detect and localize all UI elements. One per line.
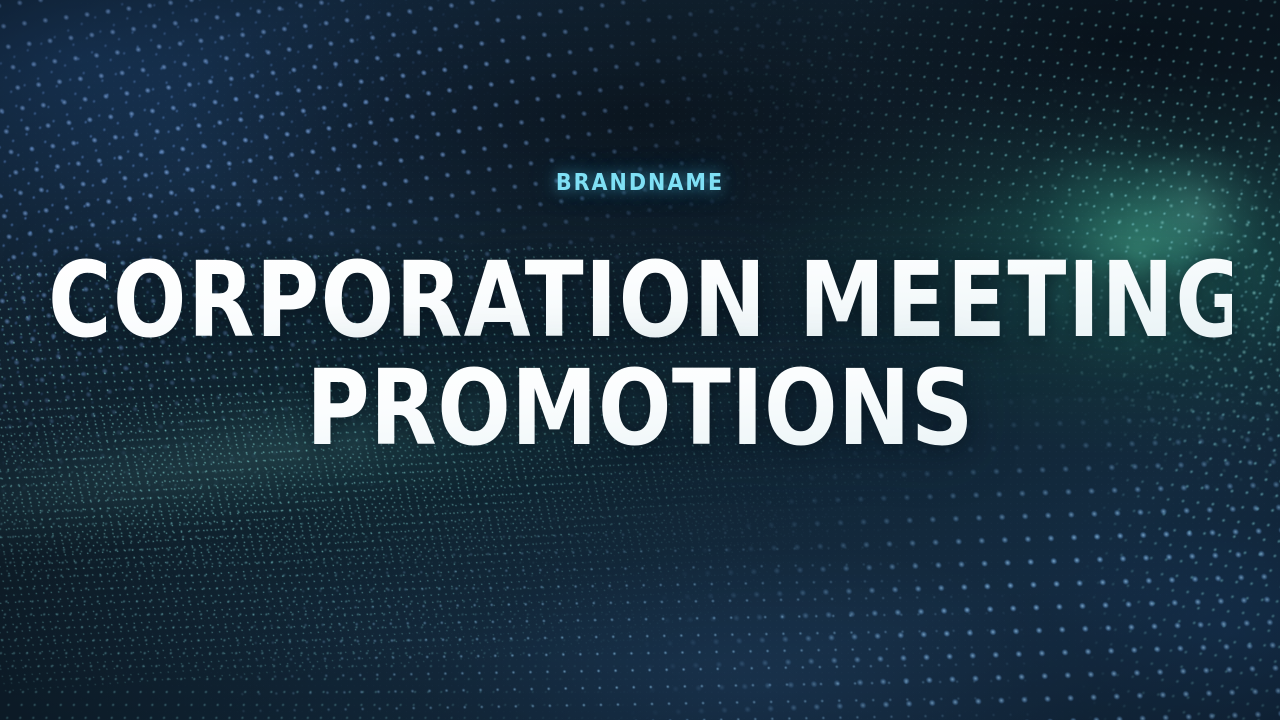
brand-name-label: BRANDNAME — [0, 172, 1280, 195]
page-title-line-2: PROMOTIONS — [48, 354, 1232, 462]
page-title: CORPORATION MEETING PROMOTIONS — [0, 246, 1280, 462]
slide-content: BRANDNAME CORPORATION MEETING PROMOTIONS — [0, 0, 1280, 720]
presentation-slide: BRANDNAME CORPORATION MEETING PROMOTIONS — [0, 0, 1280, 720]
page-title-line-1: CORPORATION MEETING — [48, 246, 1232, 354]
